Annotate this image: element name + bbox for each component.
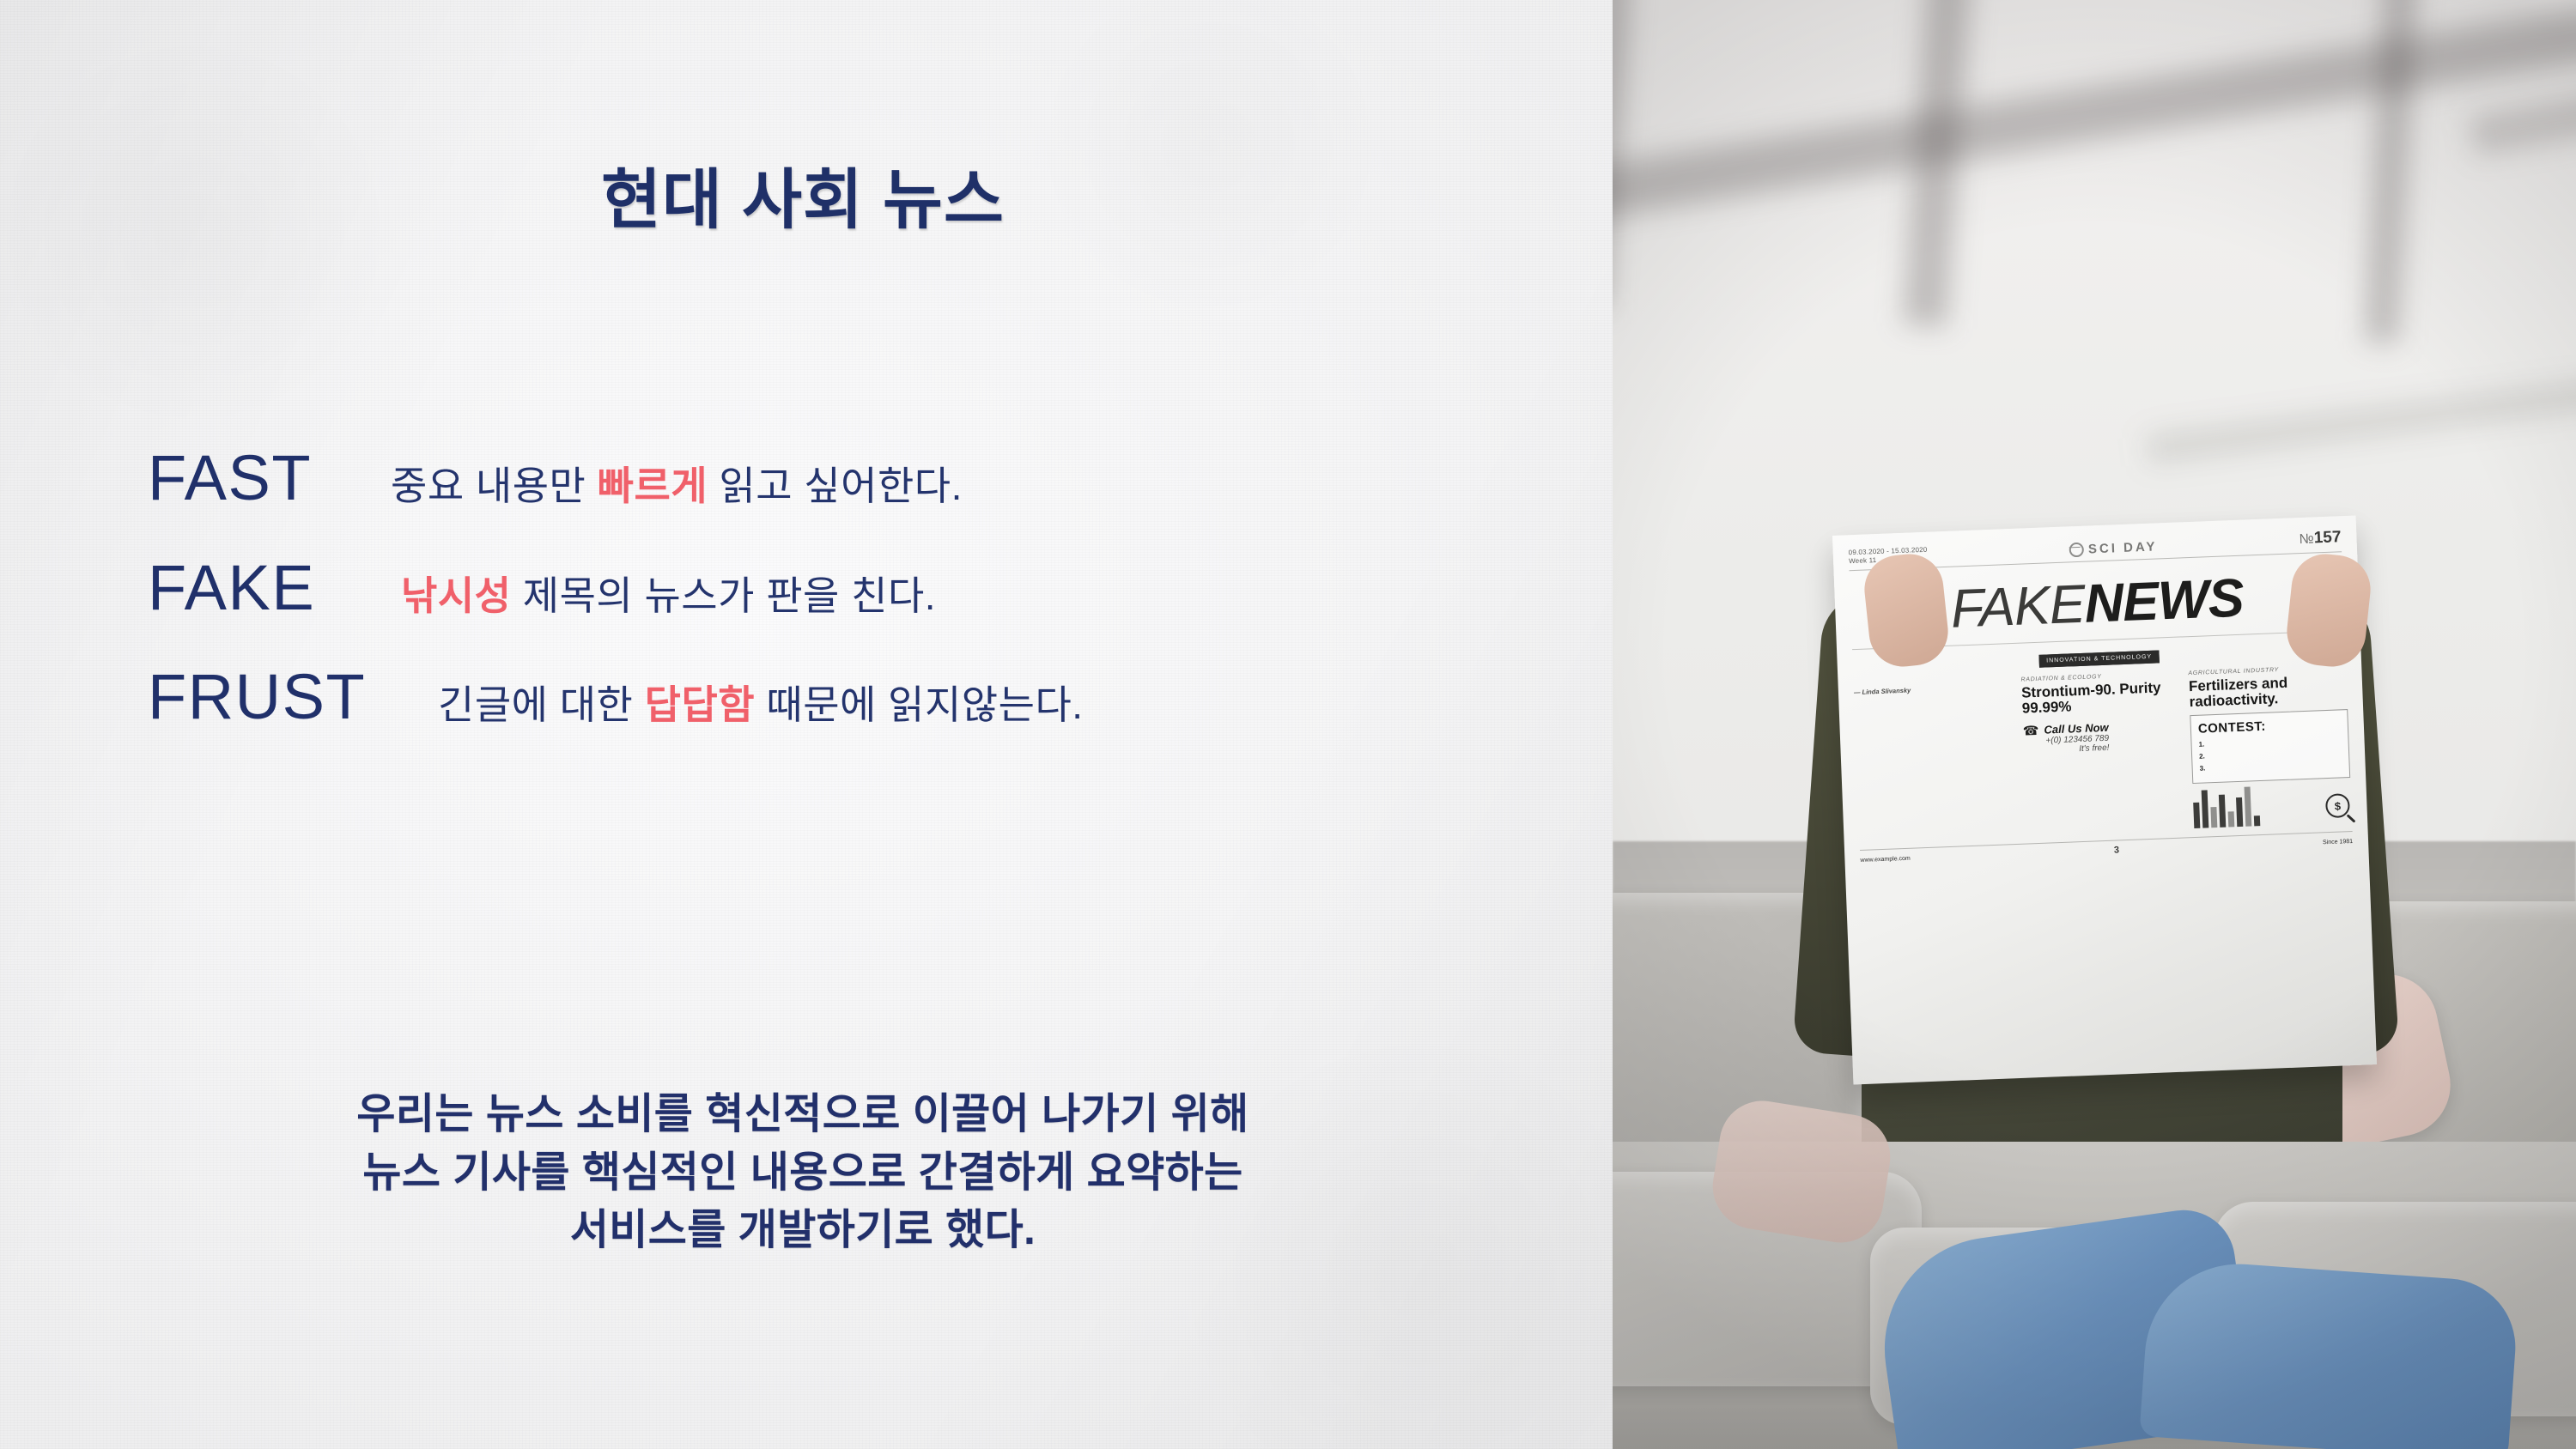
- statement-line-2: 뉴스 기사를 핵심적인 내용으로 간결하게 요약하는: [0, 1144, 1606, 1203]
- bar-chart-graphic: $: [2193, 783, 2353, 828]
- keyword-phrase-fast: 중요 내용만 빠르게 읽고 싶어한다.: [391, 462, 963, 512]
- presentation-slide: 현대 사회 뉴스 FAST 중요 내용만 빠르게 읽고 싶어한다. FAKE 낚…: [0, 0, 2576, 1449]
- masthead-news: NEWS: [2083, 568, 2245, 634]
- issue-prefix: №: [2299, 531, 2314, 547]
- globe-icon: [2069, 543, 2085, 558]
- phone-icon: ☎: [2023, 724, 2039, 738]
- phrase-highlight: 빠르게: [598, 464, 708, 508]
- contest-item: 3.: [2199, 759, 2342, 772]
- newspaper-column-left: — Linda Slivansky: [1854, 677, 2018, 841]
- footer-website: www.example.com: [1860, 855, 1911, 863]
- keyword-row-frust: FRUST 긴글에 대한 답답함 때문에 읽지않는다.: [148, 665, 1564, 731]
- phrase-highlight: 답답함: [645, 682, 755, 727]
- left-text-panel: 현대 사회 뉴스 FAST 중요 내용만 빠르게 읽고 싶어한다. FAKE 낚…: [0, 0, 1613, 1449]
- keyword-row-fast: FAST 중요 내용만 빠르게 읽고 싶어한다.: [148, 446, 1564, 512]
- contest-item: 2.: [2199, 747, 2342, 760]
- contest-item-number: 3.: [2199, 765, 2205, 773]
- phrase-pre: 긴글에 대한: [438, 682, 645, 727]
- issue-number: 157: [2313, 528, 2341, 547]
- newspaper-byline: — Linda Slivansky: [1854, 682, 2012, 696]
- contest-item-number: 1.: [2198, 741, 2204, 749]
- phrase-pre: 중요 내용만: [391, 464, 598, 508]
- footer-since: Since 1981: [2323, 838, 2353, 845]
- call-us-block: ☎ Call Us Now +(0) 123456 789 It's free!: [2023, 719, 2182, 756]
- footer-page-number: 3: [2114, 845, 2120, 855]
- person-jeans-leg: [2139, 1258, 2519, 1449]
- magnifier-dollar-icon: $: [2325, 793, 2350, 818]
- page-title: 현대 사회 뉴스: [0, 161, 1606, 239]
- phrase-post: 때문에 읽지않는다.: [755, 682, 1083, 727]
- keyword-label-frust: FRUST: [148, 665, 362, 729]
- contest-item-text: [2209, 759, 2342, 772]
- phrase-highlight: 낚시성: [401, 573, 511, 618]
- newspaper-column-right: AGRICULTURAL INDUSTRY Fertilizers and ra…: [2188, 664, 2352, 828]
- contest-item-text: [2208, 735, 2342, 748]
- statement-line-1: 우리는 뉴스 소비를 혁신적으로 이끌어 나가기 위해: [0, 1086, 1606, 1144]
- contest-item: 1.: [2198, 735, 2341, 748]
- keyword-rows: FAST 중요 내용만 빠르게 읽고 싶어한다. FAKE 낚시성 제목의 뉴스…: [148, 446, 1564, 775]
- newspaper-issue: №157: [2299, 528, 2342, 549]
- contest-item-number: 2.: [2199, 753, 2205, 761]
- contest-item-text: [2209, 747, 2342, 760]
- keyword-row-fake: FAKE 낚시성 제목의 뉴스가 판을 친다.: [148, 556, 1564, 621]
- statement-line-3: 서비스를 개발하기로 했다.: [0, 1202, 1606, 1260]
- contest-box: CONTEST: 1. 2. 3.: [2190, 709, 2350, 784]
- phrase-post: 제목의 뉴스가 판을 친다.: [511, 573, 936, 618]
- phrase-post: 읽고 싶어한다.: [708, 464, 963, 508]
- article-headline: Fertilizers and radioactivity.: [2189, 673, 2348, 710]
- keyword-phrase-fake: 낚시성 제목의 뉴스가 판을 친다.: [401, 572, 936, 621]
- newspaper-section-tag: INNOVATION & TECHNOLOGY: [2038, 650, 2160, 667]
- article-headline: Strontium-90. Purity 99.99%: [2021, 680, 2180, 717]
- newspaper-columns: — Linda Slivansky RADIATION & ECOLOGY St…: [1854, 664, 2353, 841]
- masthead-fake: FAKE: [1950, 574, 2086, 640]
- contest-title: CONTEST:: [2198, 716, 2342, 736]
- fakenews-photo: 09.03.2020 - 15.03.2020 Week 11 SCI DAY …: [1613, 0, 2576, 1449]
- keyword-label-fake: FAKE: [148, 556, 324, 620]
- closing-statement: 우리는 뉴스 소비를 혁신적으로 이끌어 나가기 위해 뉴스 기사를 핵심적인 …: [0, 1086, 1606, 1260]
- keyword-label-fast: FAST: [148, 446, 324, 510]
- newspaper-brand-text: SCI DAY: [2088, 539, 2158, 556]
- newspaper-column-mid: RADIATION & ECOLOGY Strontium-90. Purity…: [2020, 671, 2184, 835]
- newspaper-brand: SCI DAY: [2069, 539, 2158, 557]
- keyword-phrase-frust: 긴글에 대한 답답함 때문에 읽지않는다.: [438, 681, 1084, 731]
